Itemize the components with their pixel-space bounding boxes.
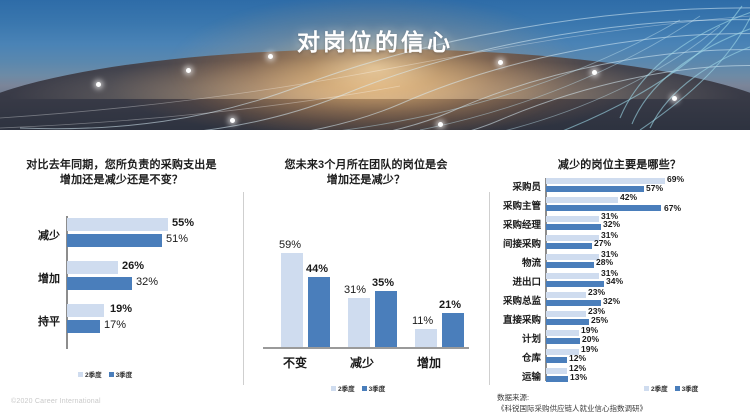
chart-3-bar-s1: [546, 254, 599, 260]
chart-3-value-s2: 20%: [582, 334, 599, 344]
chart-3-value-s2: 25%: [591, 315, 608, 325]
chart-1-legend-item-s1: 2季度: [78, 369, 102, 379]
chart-1-value-s1: 55%: [172, 217, 194, 229]
chart-3-bar-s1: [546, 216, 599, 222]
chart-2-value-s2: 44%: [306, 263, 328, 275]
page-title: 对岗位的信心: [0, 23, 750, 57]
chart-3-bar-s2: [546, 357, 567, 363]
legend-swatch-icon: [109, 372, 114, 377]
chart-3-bar-s2: [546, 262, 594, 268]
chart-1-value-s2: 51%: [166, 233, 188, 245]
chart-3-bar-s2: [546, 376, 568, 382]
chart-2-bar-s1: [348, 298, 370, 347]
panel-headcount-outlook: 您未来3个月所在团队的岗位是会 增加还是减少？ 59% 44% 不变 31% 3…: [243, 130, 489, 419]
legend-swatch-icon: [644, 386, 649, 391]
chart-3-value-s2: 12%: [569, 353, 586, 363]
chart-1-category-label: 持平: [0, 313, 60, 329]
chart-3-bar-s1: [546, 330, 579, 336]
slide-root: 对岗位的信心 对比去年同期，您所负责的采购支出是 增加还是减少还是不变？ 减少 …: [0, 0, 750, 419]
chart-1-title-line2: 增加还是减少还是不变？: [0, 173, 243, 188]
network-node-dot: [592, 70, 597, 75]
chart-3-bar-s1: [546, 368, 567, 374]
chart-3-bar-s2: [546, 338, 580, 344]
network-node-dot: [438, 122, 443, 127]
chart-2-bar-s1: [281, 253, 303, 347]
chart-3-title: 减少的岗位主要是哪些？: [489, 158, 750, 173]
chart-1-legend-item-s2: 3季度: [109, 369, 133, 379]
legend-swatch-icon: [362, 386, 367, 391]
chart-3-category-label: 采购员: [489, 179, 541, 193]
chart-1-legend: 2季度 3季度: [78, 369, 132, 379]
chart-2-title: 您未来3个月所在团队的岗位是会 增加还是减少？: [243, 158, 489, 188]
chart-2-legend: 2季度 3季度: [331, 383, 385, 393]
chart-3-value-s1: 42%: [620, 192, 637, 202]
chart-2-legend-item-s2: 3季度: [362, 383, 386, 393]
chart-2-bar-s1: [415, 329, 437, 347]
chart-2-value-s1: 31%: [344, 284, 366, 296]
chart-1-value-s2: 32%: [136, 276, 158, 288]
chart-2-title-line2: 增加还是减少？: [243, 173, 489, 188]
data-source-note: 数据来源: 《科锐国际采购供应链人就业信心指数调研》: [497, 392, 697, 414]
chart-3-category-label: 计划: [489, 331, 541, 345]
chart-3-value-s1: 69%: [667, 174, 684, 184]
data-source-line2: 《科锐国际采购供应链人就业信心指数调研》: [497, 403, 697, 414]
chart-3-value-s2: 28%: [596, 257, 613, 267]
chart-1-value-s1: 19%: [110, 303, 132, 315]
network-node-dot: [186, 68, 191, 73]
chart-3-value-s2: 67%: [664, 203, 681, 213]
chart-3-category-label: 采购主管: [489, 198, 541, 212]
chart-3-value-s2: 34%: [606, 276, 623, 286]
legend-swatch-icon: [331, 386, 336, 391]
chart-1-bar-s1: [67, 304, 104, 317]
chart-1-value-s2: 17%: [104, 319, 126, 331]
chart-1-bar-s2: [67, 234, 162, 247]
chart-3-plot: 采购员 69% 57% 采购主管 42% 67% 采购经理 31% 32% 间接…: [489, 176, 750, 388]
chart-3-value-s2: 32%: [603, 219, 620, 229]
chart-3-value-s2: 27%: [594, 238, 611, 248]
chart-3-category-label: 运输: [489, 369, 541, 383]
chart-3-category-label: 物流: [489, 255, 541, 269]
chart-1-plot: 减少 55% 51% 增加 26% 32% 持平 19% 17%: [0, 212, 243, 367]
chart-2-bar-s2: [308, 277, 330, 347]
chart-1-legend-label-s1: 2季度: [85, 369, 102, 379]
chart-3-bar-s1: [546, 273, 599, 279]
chart-3-category-label: 直接采购: [489, 312, 541, 326]
legend-swatch-icon: [675, 386, 680, 391]
chart-1-title: 对比去年同期，您所负责的采购支出是 增加还是减少还是不变？: [0, 158, 243, 188]
panel-purchasing-spend: 对比去年同期，您所负责的采购支出是 增加还是减少还是不变？ 减少 55% 51%…: [0, 130, 243, 419]
chart-3-value-s2: 13%: [570, 372, 587, 382]
chart-3-bar-s2: [546, 224, 601, 230]
chart-3-bar-s1: [546, 292, 586, 298]
chart-1-category-label: 增加: [0, 270, 60, 286]
chart-3-category-label: 仓库: [489, 350, 541, 364]
chart-1-bar-s1: [67, 261, 118, 274]
network-arcs-decoration: [0, 0, 750, 130]
chart-3-bar-s1: [546, 197, 618, 203]
chart-2-value-s2: 21%: [439, 299, 461, 311]
chart-2-legend-label-s1: 2季度: [338, 383, 355, 393]
chart-2-plot: 59% 44% 不变 31% 35% 减少 11% 21% 增加: [243, 212, 489, 377]
legend-swatch-icon: [78, 372, 83, 377]
chart-1-value-s1: 26%: [122, 260, 144, 272]
chart-3-category-label: 采购经理: [489, 217, 541, 231]
chart-2-category-label: 增加: [389, 354, 469, 371]
chart-1-bar-s1: [67, 218, 168, 231]
chart-3-category-label: 间接采购: [489, 236, 541, 250]
panel-reduced-roles: 减少的岗位主要是哪些？ 采购员 69% 57% 采购主管 42% 67% 采购经…: [489, 130, 750, 419]
chart-2-value-s1: 59%: [279, 239, 301, 251]
chart-3-value-s2: 32%: [603, 296, 620, 306]
chart-2-legend-label-s2: 3季度: [369, 383, 386, 393]
network-node-dot: [498, 60, 503, 65]
chart-2-value-s1: 11%: [412, 315, 433, 327]
chart-1-bar-s2: [67, 320, 100, 333]
chart-1-title-line1: 对比去年同期，您所负责的采购支出是: [0, 158, 243, 173]
chart-3-bar-s1: [546, 311, 586, 317]
chart-3-value-s2: 57%: [646, 183, 663, 193]
content-area: 对比去年同期，您所负责的采购支出是 增加还是减少还是不变？ 减少 55% 51%…: [0, 130, 750, 419]
chart-2-title-line1: 您未来3个月所在团队的岗位是会: [243, 158, 489, 173]
chart-1-category-label: 减少: [0, 227, 60, 243]
chart-3-category-label: 采购总监: [489, 293, 541, 307]
chart-2-value-s2: 35%: [372, 277, 394, 289]
chart-1-bar-s2: [67, 277, 132, 290]
chart-1-legend-label-s2: 3季度: [116, 369, 133, 379]
data-source-line1: 数据来源:: [497, 392, 697, 403]
chart-2-bar-s2: [442, 313, 464, 347]
copyright-notice: ©2020 Career International: [11, 398, 101, 405]
network-node-dot: [96, 82, 101, 87]
network-node-dot: [672, 96, 677, 101]
header-banner: 对岗位的信心: [0, 0, 750, 130]
chart-2-legend-item-s1: 2季度: [331, 383, 355, 393]
network-node-dot: [230, 118, 235, 123]
chart-3-bar-s2: [546, 243, 592, 249]
chart-3-bar-s1: [546, 235, 599, 241]
chart-2-baseline: [263, 347, 469, 349]
chart-3-category-label: 进出口: [489, 274, 541, 288]
chart-2-bar-s2: [375, 291, 397, 347]
